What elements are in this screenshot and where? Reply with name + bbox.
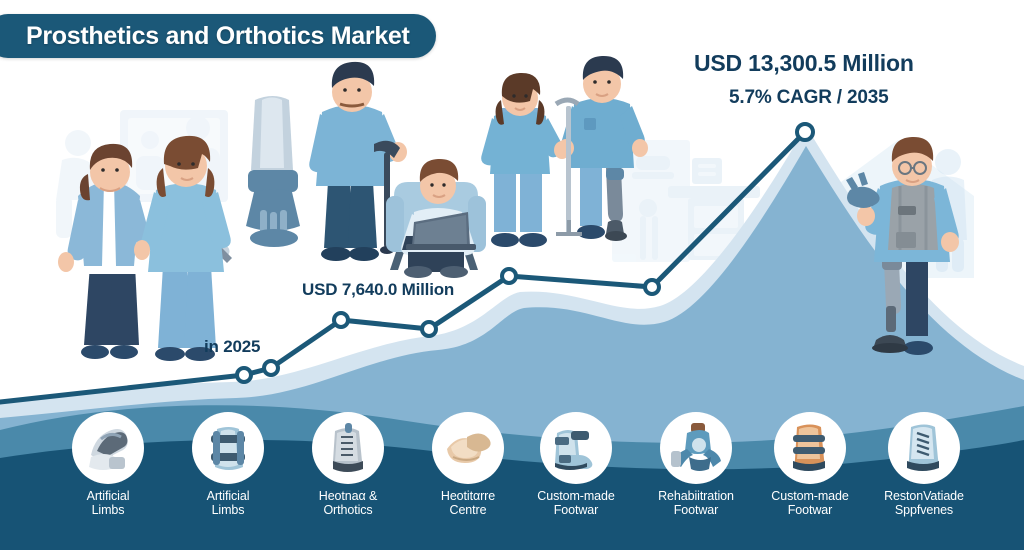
artificial-limb-icon	[72, 412, 144, 484]
category-item-custom-footwear-1[interactable]: Custom-made Footwar	[520, 412, 632, 517]
category-item-artificial-limbs-1[interactable]: Artificial Limbs	[52, 412, 164, 517]
shoe-insole-icon	[432, 412, 504, 484]
walking-boot-icon	[774, 412, 846, 484]
callout-cagr: 5.7% CAGR / 2035	[729, 87, 888, 109]
data-point-marker-peak	[797, 124, 813, 140]
knee-brace-icon	[540, 412, 612, 484]
data-point-marker	[422, 322, 436, 336]
page-title: Prosthetics and Orthotics Market	[26, 22, 410, 51]
data-point-marker	[334, 313, 348, 327]
category-item-healthcare-centre[interactable]: Heotitαrre Centre	[412, 412, 524, 517]
category-item-rehabilitation[interactable]: Rehabiitration Footwar	[640, 412, 752, 517]
orthopedic-sneaker-icon	[888, 412, 960, 484]
leg-brace-icon	[192, 412, 264, 484]
category-caption: RestonVatiade Sppfvenes	[868, 489, 980, 517]
category-caption: Artificial Limbs	[172, 489, 284, 517]
category-caption: Heotnaα & Orthotics	[292, 489, 404, 517]
data-point-marker	[645, 280, 659, 294]
orthotic-boot-icon	[312, 412, 384, 484]
title-banner: Prosthetics and Orthotics Market	[0, 14, 436, 58]
category-caption: Custom-made Footwar	[754, 489, 866, 517]
callout-value-2035: USD 13,300.5 Million	[694, 50, 914, 77]
category-caption: Artificial Limbs	[52, 489, 164, 517]
category-item-orthotics[interactable]: Heotnaα & Orthotics	[292, 412, 404, 517]
category-item-artificial-limbs-2[interactable]: Artificial Limbs	[172, 412, 284, 517]
trend-line-markers	[237, 124, 813, 382]
category-caption: Custom-made Footwar	[520, 489, 632, 517]
category-caption: Rehabiitration Footwar	[640, 489, 752, 517]
infographic-canvas: Prosthetics and Orthotics Market USD 13,…	[0, 0, 1024, 550]
category-item-custom-footwear-2[interactable]: Custom-made Footwar	[754, 412, 866, 517]
callout-value-2025: USD 7,640.0 Million	[302, 280, 454, 300]
category-item-restorative[interactable]: RestonVatiade Sppfvenes	[868, 412, 980, 517]
data-point-marker	[237, 368, 251, 382]
callout-year-2025: in 2025	[204, 337, 260, 357]
prosthetic-knee-icon	[660, 412, 732, 484]
category-caption: Heotitαrre Centre	[412, 489, 524, 517]
data-point-marker	[264, 361, 278, 375]
data-point-marker	[502, 269, 516, 283]
trend-line-path	[0, 132, 805, 402]
